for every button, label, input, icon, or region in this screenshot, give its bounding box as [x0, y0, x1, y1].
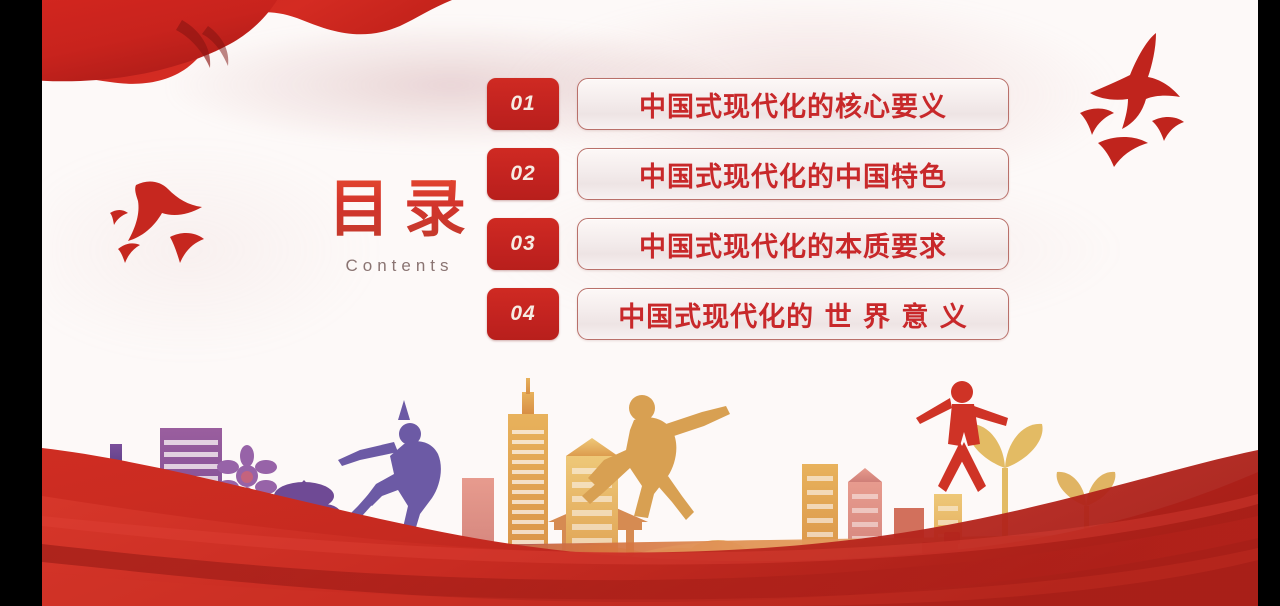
toc-label-box[interactable]: 中国式现代化的核心要义 — [577, 78, 1009, 130]
toc-number-badge: 03 — [487, 218, 559, 270]
slide-canvas: 目录 Contents 01 中国式现代化的核心要义 02 中国式现代化的中国特… — [42, 0, 1258, 606]
toc-list: 01 中国式现代化的核心要义 02 中国式现代化的中国特色 03 — [487, 78, 1009, 358]
toc-number: 03 — [510, 232, 535, 256]
toc-label: 中国式现代化的中国特色 — [639, 155, 947, 194]
toc-label-box[interactable]: 中国式现代化的本质要求 — [577, 218, 1009, 270]
toc-label-box[interactable]: 中国式现代化的 世 界 意 义 — [577, 288, 1009, 340]
toc-label-box[interactable]: 中国式现代化的中国特色 — [577, 148, 1009, 200]
red-flag-ribbon-icon — [42, 0, 452, 112]
letterbox-right — [1258, 0, 1280, 606]
toc-number-badge: 01 — [487, 78, 559, 130]
toc-number: 01 — [510, 92, 535, 116]
toc-item-02[interactable]: 02 中国式现代化的中国特色 — [487, 148, 1009, 200]
toc-item-01[interactable]: 01 中国式现代化的核心要义 — [487, 78, 1009, 130]
toc-item-04[interactable]: 04 中国式现代化的 世 界 意 义 — [487, 288, 1009, 340]
page-title: 目录 — [282, 178, 512, 240]
toc-number: 02 — [510, 162, 535, 186]
letterbox-left — [0, 0, 42, 606]
flying-birds-left-icon — [92, 175, 232, 285]
toc-heading: 目录 Contents — [282, 178, 512, 276]
toc-item-03[interactable]: 03 中国式现代化的本质要求 — [487, 218, 1009, 270]
red-ribbon-wave-icon — [42, 376, 1258, 606]
toc-number-badge: 02 — [487, 148, 559, 200]
page-subtitle: Contents — [282, 256, 512, 276]
toc-label: 中国式现代化的核心要义 — [639, 85, 947, 124]
flying-doves-right-icon — [1052, 25, 1242, 195]
presentation-slide: 目录 Contents 01 中国式现代化的核心要义 02 中国式现代化的中国特… — [0, 0, 1280, 606]
toc-label: 中国式现代化的本质要求 — [639, 225, 947, 264]
toc-number: 04 — [510, 302, 535, 326]
toc-number-badge: 04 — [487, 288, 559, 340]
toc-label: 中国式现代化的 世 界 意 义 — [618, 295, 968, 334]
